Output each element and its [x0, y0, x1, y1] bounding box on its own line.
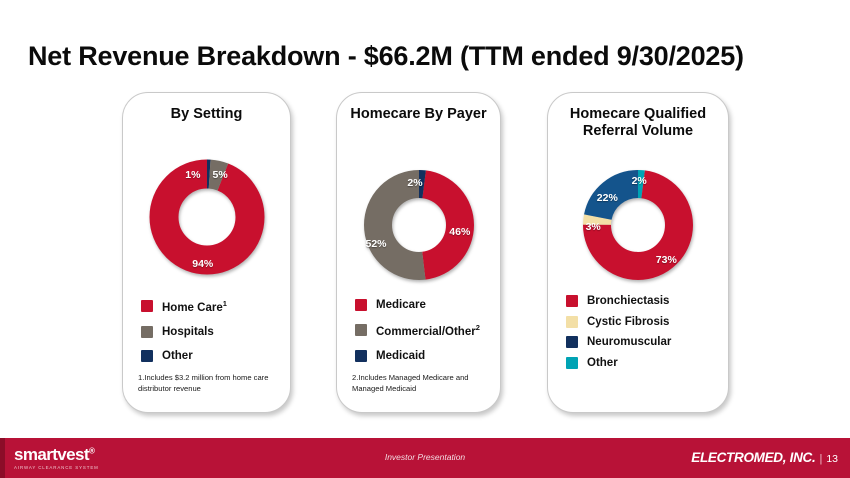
legend-swatch-cystic-fibrosis — [566, 316, 578, 328]
donut-svg — [145, 155, 269, 279]
legend-swatch-medicare — [355, 299, 367, 311]
legend-label-hospitals: Hospitals — [162, 326, 214, 338]
legend-item: Other — [566, 357, 720, 369]
chart-legend: Bronchiectasis Cystic Fibrosis Neuromusc… — [566, 295, 720, 377]
legend-label-neuromuscular: Neuromuscular — [587, 336, 671, 348]
legend-swatch-bronchiectasis — [566, 295, 578, 307]
legend-label-home-care: Home Care1 — [162, 299, 227, 314]
legend-swatch-medicaid — [355, 350, 367, 362]
legend-item: Home Care1 — [141, 299, 282, 314]
legend-label-medicare: Medicare — [376, 299, 426, 311]
legend-label-other: Other — [162, 350, 193, 362]
chart-footnote: 2.Includes Managed Medicare and Managed … — [352, 372, 489, 394]
chart-footnote: 1.Includes $3.2 million from home care d… — [138, 372, 279, 394]
legend-item: Bronchiectasis — [566, 295, 720, 307]
footer-company-name: ELECTROMED, INC. — [691, 450, 815, 465]
legend-item: Medicare — [355, 299, 492, 311]
legend-item: Commercial/Other2 — [355, 323, 492, 338]
legend-swatch-other — [141, 350, 153, 362]
legend-swatch-neuromuscular — [566, 336, 578, 348]
donut-chart-by-setting: 1% 5% 94% — [123, 155, 290, 279]
legend-label-commercial-other: Commercial/Other2 — [376, 323, 480, 338]
chart-legend: Medicare Commercial/Other2 Medicaid — [355, 299, 492, 374]
legend-swatch-other — [566, 357, 578, 369]
legend-label-cystic-fibrosis: Cystic Fibrosis — [587, 316, 669, 328]
legend-item: Medicaid — [355, 350, 492, 362]
footer-separator: | — [819, 453, 822, 465]
page-title: Net Revenue Breakdown - $66.2M (TTM ende… — [28, 41, 744, 72]
legend-item: Other — [141, 350, 282, 362]
donut-svg — [579, 166, 697, 284]
chart-card-referral-volume: Homecare Qualified Referral Volume 2% 22… — [547, 92, 729, 413]
chart-title: By Setting — [129, 106, 284, 123]
donut-chart-referral-volume: 2% 22% 3% 73% — [548, 166, 728, 284]
chart-card-by-setting: By Setting 1% 5% 94% Home Care1 — [122, 92, 291, 413]
footer-bar: smartvest® AIRWAY CLEARANCE SYSTEM Inves… — [0, 438, 850, 478]
legend-swatch-home-care — [141, 300, 153, 312]
donut-svg — [360, 166, 478, 284]
footer-right-group: ELECTROMED, INC. | 13 — [691, 450, 838, 465]
chart-title: Homecare Qualified Referral Volume — [554, 106, 722, 140]
charts-row: By Setting 1% 5% 94% Home Care1 — [0, 92, 850, 417]
chart-title: Homecare By Payer — [343, 106, 494, 123]
chart-card-homecare-by-payer: Homecare By Payer 2% 46% 52% Medicare — [336, 92, 501, 413]
legend-label-bronchiectasis: Bronchiectasis — [587, 295, 669, 307]
legend-swatch-hospitals — [141, 326, 153, 338]
donut-chart-homecare-by-payer: 2% 46% 52% — [337, 166, 500, 284]
legend-label-medicaid: Medicaid — [376, 350, 425, 362]
legend-item: Hospitals — [141, 326, 282, 338]
legend-item: Cystic Fibrosis — [566, 316, 720, 328]
legend-swatch-commercial-other — [355, 324, 367, 336]
legend-item: Neuromuscular — [566, 336, 720, 348]
brand-tagline: AIRWAY CLEARANCE SYSTEM — [14, 465, 99, 470]
legend-label-other: Other — [587, 357, 618, 369]
chart-legend: Home Care1 Hospitals Other — [141, 299, 282, 374]
footer-page-number: 13 — [826, 453, 838, 465]
